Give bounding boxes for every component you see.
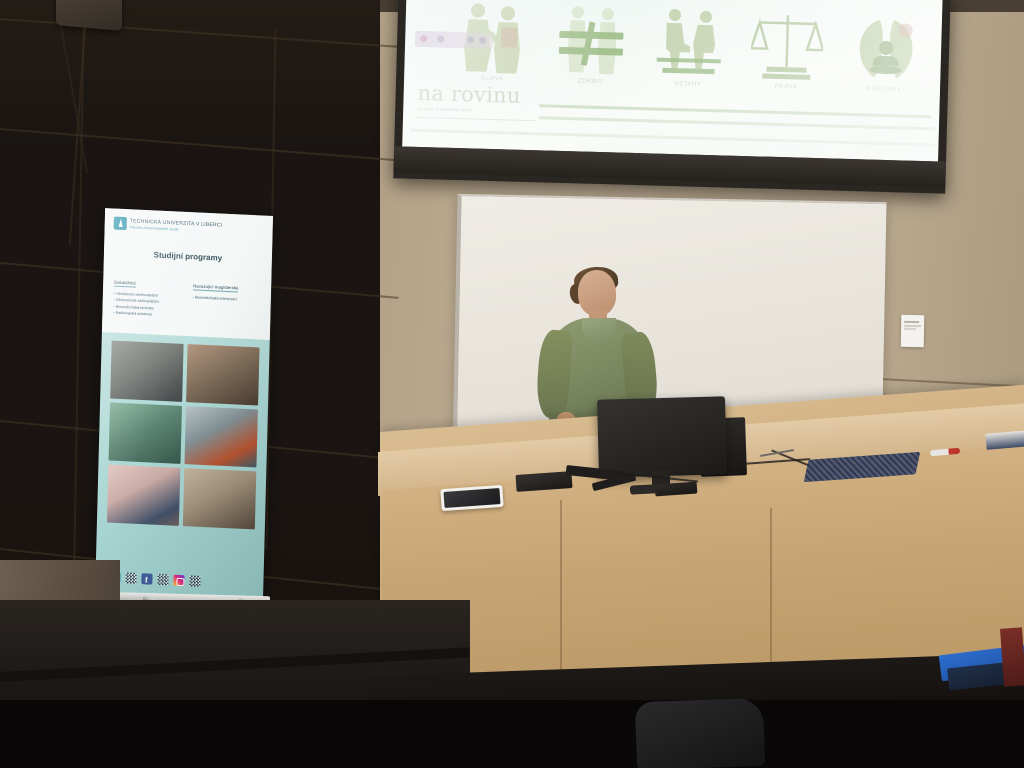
screen-surface: Děláme NA ROVINU <box>402 0 942 161</box>
projection-screen: Děláme NA ROVINU <box>393 0 950 194</box>
black-bag <box>635 698 765 768</box>
red-seat <box>1000 627 1024 686</box>
notice-text-line <box>904 321 919 323</box>
desk-panel-seam <box>770 508 772 678</box>
notice-text-line <box>904 325 921 327</box>
tablet-screen[interactable] <box>444 488 501 508</box>
banner-glare <box>95 208 273 604</box>
foreground-shadow <box>0 700 1024 768</box>
desk-panel-seam <box>560 500 562 688</box>
presenter-cowl-collar <box>582 318 616 340</box>
wall-notice-paper <box>901 315 925 347</box>
notice-text-line <box>904 328 916 330</box>
tablet-device[interactable] <box>440 485 503 511</box>
rollup-banner: TECHNICKÁ UNIVERZITA V LIBERCI Fakulta z… <box>95 208 273 604</box>
screen-glare <box>402 0 942 161</box>
lecture-hall-photo: Děláme NA ROVINU <box>0 0 1024 768</box>
papers-stack <box>985 430 1024 450</box>
